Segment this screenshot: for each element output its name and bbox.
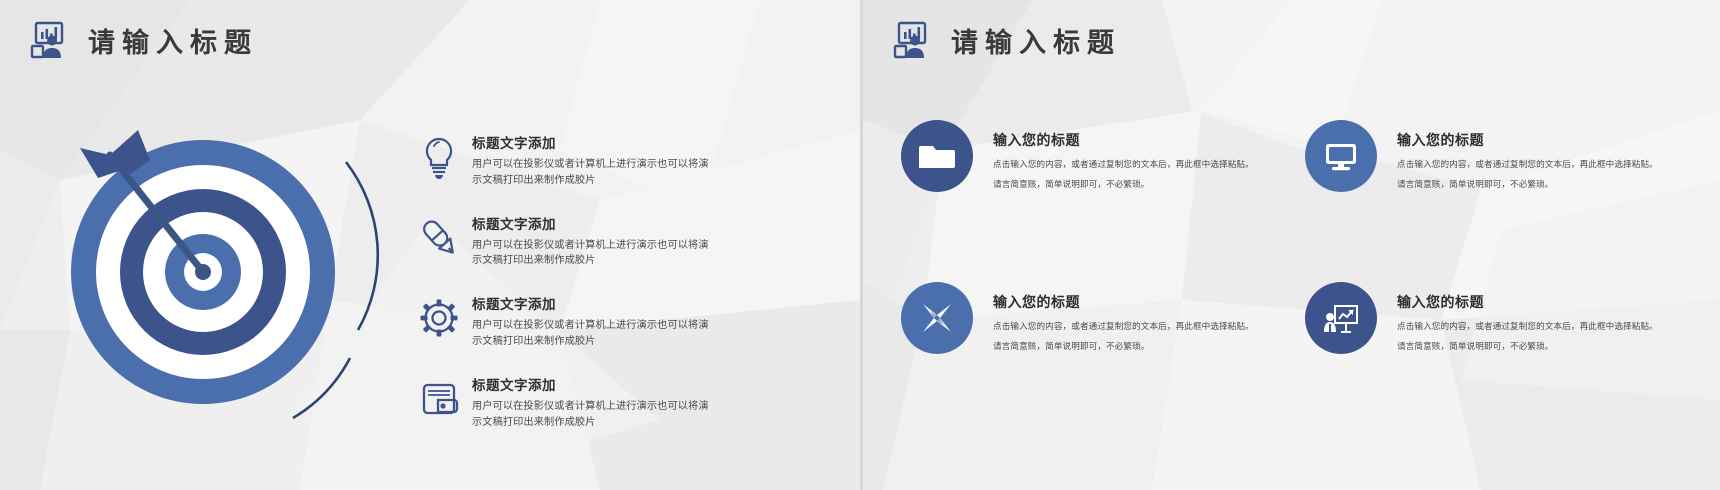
list-item-title: 标题文字添加 (472, 293, 712, 313)
feature-grid: 输入您的标题 点击输入您的内容，或者通过复制您的文本后，再此框中选择粘贴。 请言… (901, 120, 1691, 354)
list-item[interactable]: 标题文字添加 用户可以在投影仪或者计算机上进行演示也可以将演示文稿打印出来制作成… (418, 132, 838, 189)
grid-item-body-line2: 请言简意赅，简单说明即可，不必繁琐。 (993, 179, 1254, 189)
pencil-icon (418, 213, 460, 259)
lightbulb-icon (418, 132, 460, 178)
presenter-chart-icon (1305, 282, 1377, 354)
list-item-body: 用户可以在投影仪或者计算机上进行演示也可以将演示文稿打印出来制作成胶片 (472, 318, 712, 350)
grid-item[interactable]: 输入您的标题 点击输入您的内容，或者通过复制您的文本后，再此框中选择粘贴。 请言… (1305, 282, 1691, 354)
grid-item-body-line1: 点击输入您的内容，或者通过复制您的文本后，再此框中选择粘贴。 (993, 159, 1254, 169)
grid-item-body-line1: 点击输入您的内容，或者通过复制您的文本后，再此框中选择粘贴。 (993, 321, 1254, 331)
list-item[interactable]: 标题文字添加 用户可以在投影仪或者计算机上进行演示也可以将演示文稿打印出来制作成… (418, 213, 838, 270)
dartboard-target-with-arrow-icon (58, 100, 398, 420)
page-title: 请输入标题 (88, 21, 258, 60)
grid-item[interactable]: 输入您的标题 点击输入您的内容，或者通过复制您的文本后，再此框中选择粘贴。 请言… (901, 282, 1287, 354)
list-item-body: 用户可以在投影仪或者计算机上进行演示也可以将演示文稿打印出来制作成胶片 (472, 238, 712, 270)
monitor-icon (1305, 120, 1377, 192)
list-item-body: 用户可以在投影仪或者计算机上进行演示也可以将演示文稿打印出来制作成胶片 (472, 399, 712, 431)
presentation-person-icon (28, 20, 68, 60)
presentation-person-icon (891, 20, 931, 60)
folder-icon (901, 120, 973, 192)
wallet-icon (418, 374, 460, 420)
grid-item-body-line1: 点击输入您的内容，或者通过复制您的文本后，再此框中选择粘贴。 (1397, 159, 1658, 169)
list-item-title: 标题文字添加 (472, 213, 712, 233)
slide-header: 请输入标题 (28, 20, 258, 60)
grid-item-body-line2: 请言简意赅，简单说明即可，不必繁琐。 (1397, 179, 1658, 189)
grid-item-body-line1: 点击输入您的内容，或者通过复制您的文本后，再此框中选择粘贴。 (1397, 321, 1658, 331)
feature-list: 标题文字添加 用户可以在投影仪或者计算机上进行演示也可以将演示文稿打印出来制作成… (418, 132, 838, 455)
page-title: 请输入标题 (951, 21, 1121, 60)
grid-item-title: 输入您的标题 (1397, 130, 1658, 150)
grid-item[interactable]: 输入您的标题 点击输入您的内容，或者通过复制您的文本后，再此框中选择粘贴。 请言… (901, 120, 1287, 192)
grid-item-title: 输入您的标题 (993, 130, 1254, 150)
list-item-body: 用户可以在投影仪或者计算机上进行演示也可以将演示文稿打印出来制作成胶片 (472, 157, 712, 189)
slide-left: 请输入标题 (0, 0, 860, 490)
grid-item-title: 输入您的标题 (1397, 292, 1658, 312)
grid-item-body-line2: 请言简意赅，简单说明即可，不必繁琐。 (1397, 341, 1658, 351)
list-item[interactable]: 标题文字添加 用户可以在投影仪或者计算机上进行演示也可以将演示文稿打印出来制作成… (418, 293, 838, 350)
grid-item-body-line2: 请言简意赅，简单说明即可，不必繁琐。 (993, 341, 1254, 351)
slide-deck: 请输入标题 (0, 0, 1720, 490)
grid-item[interactable]: 输入您的标题 点击输入您的内容，或者通过复制您的文本后，再此框中选择粘贴。 请言… (1305, 120, 1691, 192)
gear-icon (418, 293, 460, 339)
list-item-title: 标题文字添加 (472, 132, 712, 152)
list-item-title: 标题文字添加 (472, 374, 712, 394)
slide-header: 请输入标题 (891, 20, 1121, 60)
grid-item-title: 输入您的标题 (993, 292, 1254, 312)
slide-right: 请输入标题 输入您的标题 点击输入您的内容，或者通过复制您的文本后，再此框中选择… (860, 0, 1720, 490)
list-item[interactable]: 标题文字添加 用户可以在投影仪或者计算机上进行演示也可以将演示文稿打印出来制作成… (418, 374, 838, 431)
four-point-star-icon (901, 282, 973, 354)
